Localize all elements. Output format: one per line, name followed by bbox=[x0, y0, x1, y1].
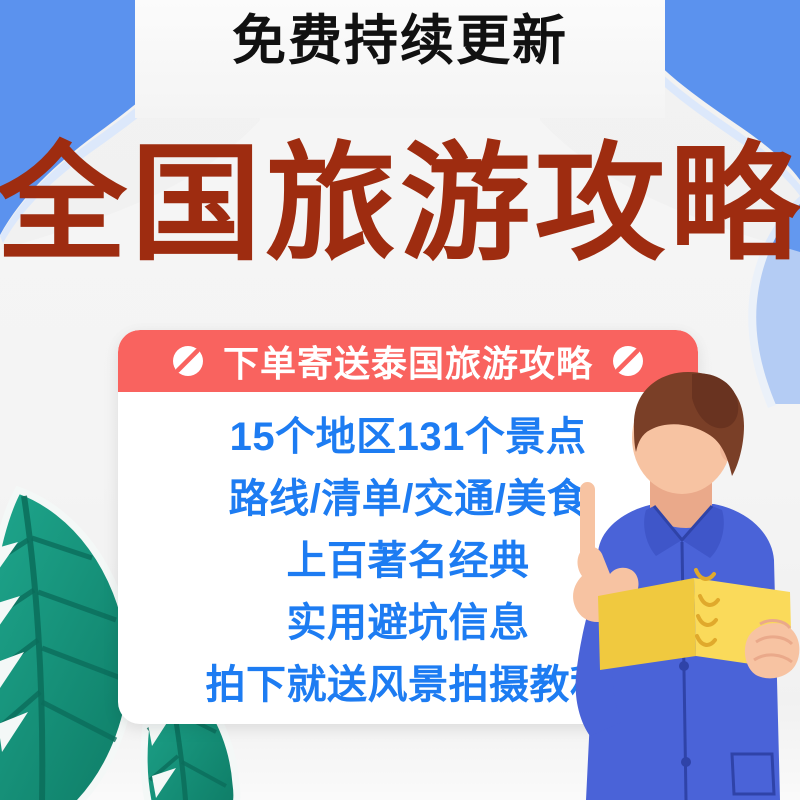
holding-hand bbox=[745, 623, 799, 678]
person-illustration bbox=[546, 370, 800, 800]
kicker-text: 免费持续更新 bbox=[0, 8, 800, 76]
index-finger bbox=[580, 482, 595, 562]
card-banner-label: 下单寄送泰国旅游攻略 bbox=[223, 335, 593, 387]
feature-item: 实用避坑信息 bbox=[287, 592, 530, 654]
slash-circle-icon bbox=[171, 344, 205, 378]
shirt-button bbox=[681, 757, 691, 767]
leaf-large bbox=[0, 490, 131, 800]
shirt-button bbox=[679, 661, 689, 671]
feature-item: 路线/清单/交通/美食 bbox=[229, 468, 588, 530]
page-title: 全国旅游攻略 bbox=[0, 135, 800, 276]
feature-item: 上百著名经典 bbox=[287, 530, 530, 592]
feature-item: 15个地区131个景点 bbox=[230, 406, 587, 468]
poster-root: 免费持续更新 全国旅游攻略 bbox=[0, 0, 800, 800]
